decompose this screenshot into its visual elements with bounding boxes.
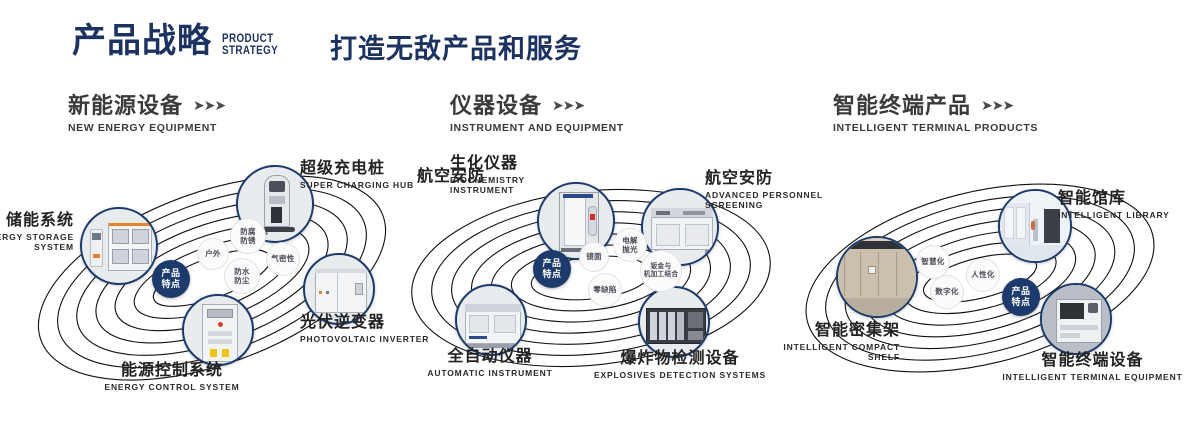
section-title-cn: 仪器设备	[450, 94, 542, 118]
banner-header: 产品战略 PRODUCT STRATEGY	[72, 24, 290, 58]
node-intelligent-terminal-equipment[interactable]	[1040, 283, 1112, 355]
arrows-icon: ➤➤➤	[552, 98, 584, 113]
orbit-group-intelligent-terminal: 智能馆库 INTELLIGENT LIBRARY 智能密集架 INTELLIGE…	[790, 150, 1200, 390]
section-title-instrument: 仪器设备 ➤➤➤ INSTRUMENT AND EQUIPMENT	[450, 94, 624, 134]
feature-bubble-humanized[interactable]: 人性化	[966, 258, 1000, 292]
label-biochemistry-instrument: 生化仪器 BIOCHEMISTRY INSTRUMENT	[450, 155, 600, 196]
node-explosives-detection-systems[interactable]	[638, 286, 710, 358]
section-title-cn: 智能终端产品	[833, 94, 971, 118]
feature-bubble-waterproof[interactable]: 防水 防尘	[224, 258, 260, 294]
feature-bubble-zero-defect[interactable]: 零缺陷	[588, 273, 622, 307]
section-title-en: NEW ENERGY EQUIPMENT	[68, 122, 225, 134]
header-title-cn: 产品战略	[72, 24, 212, 58]
label-intelligent-library: 智能馆库 INTELLIGENT LIBRARY	[1058, 190, 1200, 220]
feature-bubble-digital[interactable]: 数字化	[930, 275, 964, 309]
section-title-en: INSTRUMENT AND EQUIPMENT	[450, 122, 624, 134]
feature-bubble-mirror[interactable]: 镜面	[579, 242, 609, 272]
label-energy-storage-system: 储能系统 ENERGY STORAGE SYSTEM	[0, 212, 74, 253]
label-automatic-instrument: 全自动仪器 AUTOMATIC INSTRUMENT	[390, 348, 590, 378]
feature-bubble-main[interactable]: 产品 特点	[152, 260, 190, 298]
node-automatic-instrument[interactable]	[455, 284, 527, 356]
feature-bubble-electropolishing[interactable]: 电解 抛光	[613, 228, 647, 262]
product-strategy-banner: 产品战略 PRODUCT STRATEGY 打造无敌产品和服务 新能源设备 ➤➤…	[0, 0, 1200, 422]
section-title-intelligent-terminal: 智能终端产品 ➤➤➤ INTELLIGENT TERMINAL PRODUCTS	[833, 94, 1038, 134]
label-intelligent-terminal-equipment: 智能终端设备 INTELLIGENT TERMINAL EQUIPMENT	[985, 352, 1200, 382]
node-energy-storage-system[interactable]	[80, 207, 158, 285]
arrows-icon: ➤➤➤	[193, 98, 225, 113]
arrows-icon: ➤➤➤	[981, 98, 1013, 113]
label-intelligent-compact-shelf: 智能密集架 INTELLIGENT COMPACT SHELF	[730, 322, 900, 363]
feature-bubble-airtight[interactable]: 气密性	[266, 242, 300, 276]
header-title-en: PRODUCT STRATEGY	[222, 32, 278, 56]
feature-bubble-sheetmetal-machining[interactable]: 钣金与 机加工结合	[640, 250, 682, 292]
feature-bubble-anticorrosion[interactable]: 防腐 防锈	[230, 218, 266, 254]
feature-bubble-outdoor[interactable]: 户外	[197, 238, 229, 270]
feature-bubble-main[interactable]: 产品 特点	[533, 250, 571, 288]
section-title-cn: 新能源设备	[68, 94, 183, 118]
node-intelligent-compact-shelf[interactable]	[836, 236, 918, 318]
node-energy-control-system[interactable]	[182, 294, 254, 366]
section-title-new-energy: 新能源设备 ➤➤➤ NEW ENERGY EQUIPMENT	[68, 94, 225, 134]
orbit-group-new-energy: 储能系统 ENERGY STORAGE SYSTEM 超级充电桩 SUPER C…	[0, 150, 420, 390]
header-subtitle: 打造无敌产品和服务	[330, 36, 582, 63]
label-energy-control-system: 能源控制系统 ENERGY CONTROL SYSTEM	[72, 362, 272, 392]
section-title-en: INTELLIGENT TERMINAL PRODUCTS	[833, 122, 1038, 134]
feature-bubble-smart[interactable]: 智慧化	[916, 245, 950, 279]
feature-bubble-main[interactable]: 产品 特点	[1002, 278, 1040, 316]
